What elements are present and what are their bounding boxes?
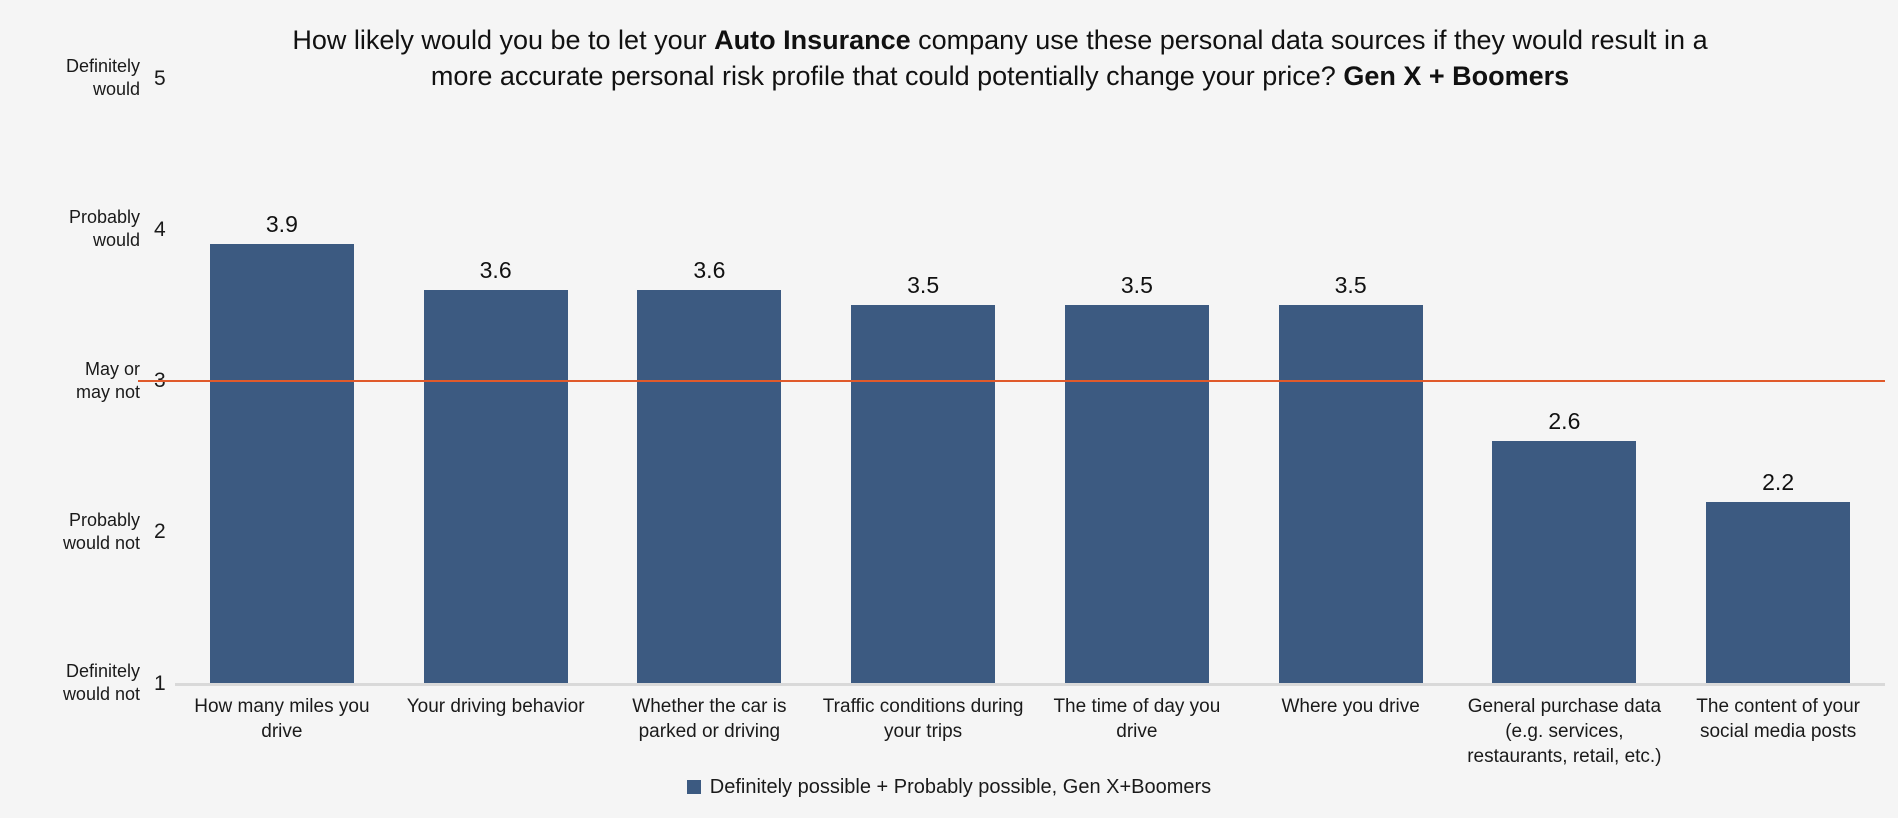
x-axis-line	[175, 683, 1885, 686]
x-axis-category-label: Traffic conditions during your trips	[816, 694, 1030, 769]
x-axis-category-label: Whether the car is parked or driving	[603, 694, 817, 769]
bar[interactable]	[1706, 502, 1850, 684]
y-axis-tick-label: May or may not	[76, 358, 140, 404]
reference-line-may-or-may-not	[138, 380, 1885, 382]
bar-value-label: 3.5	[1335, 272, 1367, 298]
bar-value-label: 3.6	[693, 257, 725, 283]
y-axis-tick-label: Probably would not	[63, 509, 140, 555]
bar[interactable]	[851, 305, 995, 683]
bar[interactable]	[1279, 305, 1423, 683]
chart-title-line1-post: company use these personal data sources …	[911, 25, 1708, 55]
y-axis-tick-label: Probably would	[69, 206, 140, 252]
chart-title-line1-bold: Auto Insurance	[714, 25, 911, 55]
bar[interactable]	[637, 290, 781, 683]
y-axis-tick: Probably would4	[0, 206, 168, 252]
y-axis-tick: Definitely would not1	[0, 660, 168, 706]
bar-value-label: 3.9	[266, 211, 298, 237]
chart-legend: Definitely possible + Probably possible,…	[0, 775, 1898, 799]
x-axis-category-label: How many miles you drive	[175, 694, 389, 769]
x-axis-labels: How many miles you driveYour driving beh…	[175, 694, 1885, 769]
y-axis-tick-value: 2	[154, 520, 168, 543]
y-axis-tick-label: Definitely would	[66, 55, 140, 101]
x-axis-category-label: Your driving behavior	[389, 694, 603, 769]
legend-label: Definitely possible + Probably possible,…	[710, 775, 1211, 799]
bar-value-label: 2.6	[1548, 408, 1580, 434]
y-axis-tick-value: 4	[154, 218, 168, 241]
chart-title-line1-pre: How likely would you be to let your	[292, 25, 714, 55]
y-axis-tick: Definitely would5	[0, 55, 168, 101]
bar-value-label: 3.6	[480, 257, 512, 283]
bar-value-label: 3.5	[1121, 272, 1153, 298]
bar[interactable]	[424, 290, 568, 683]
bar-value-label: 2.2	[1762, 469, 1794, 495]
y-axis-tick: Probably would not2	[0, 509, 168, 555]
bar-value-label: 3.5	[907, 272, 939, 298]
y-axis-tick-value: 5	[154, 67, 168, 90]
x-axis-category-label: General purchase data (e.g. services, re…	[1458, 694, 1672, 769]
x-axis-category-label: Where you drive	[1244, 694, 1458, 769]
x-axis-category-label: The time of day you drive	[1030, 694, 1244, 769]
legend-swatch-icon	[687, 780, 701, 794]
y-axis: Definitely would5Probably would4May or m…	[0, 0, 175, 818]
bar[interactable]	[1492, 441, 1636, 683]
plot-area: 3.93.63.63.53.53.52.62.2	[175, 78, 1885, 683]
y-axis-tick-label: Definitely would not	[63, 660, 140, 706]
bar[interactable]	[210, 244, 354, 683]
x-axis-category-label: The content of your social media posts	[1671, 694, 1885, 769]
bar[interactable]	[1065, 305, 1209, 683]
y-axis-tick-value: 1	[154, 672, 168, 695]
bar-chart: How likely would you be to let your Auto…	[0, 0, 1898, 818]
chart-title-line1: How likely would you be to let your Auto…	[292, 25, 1707, 55]
